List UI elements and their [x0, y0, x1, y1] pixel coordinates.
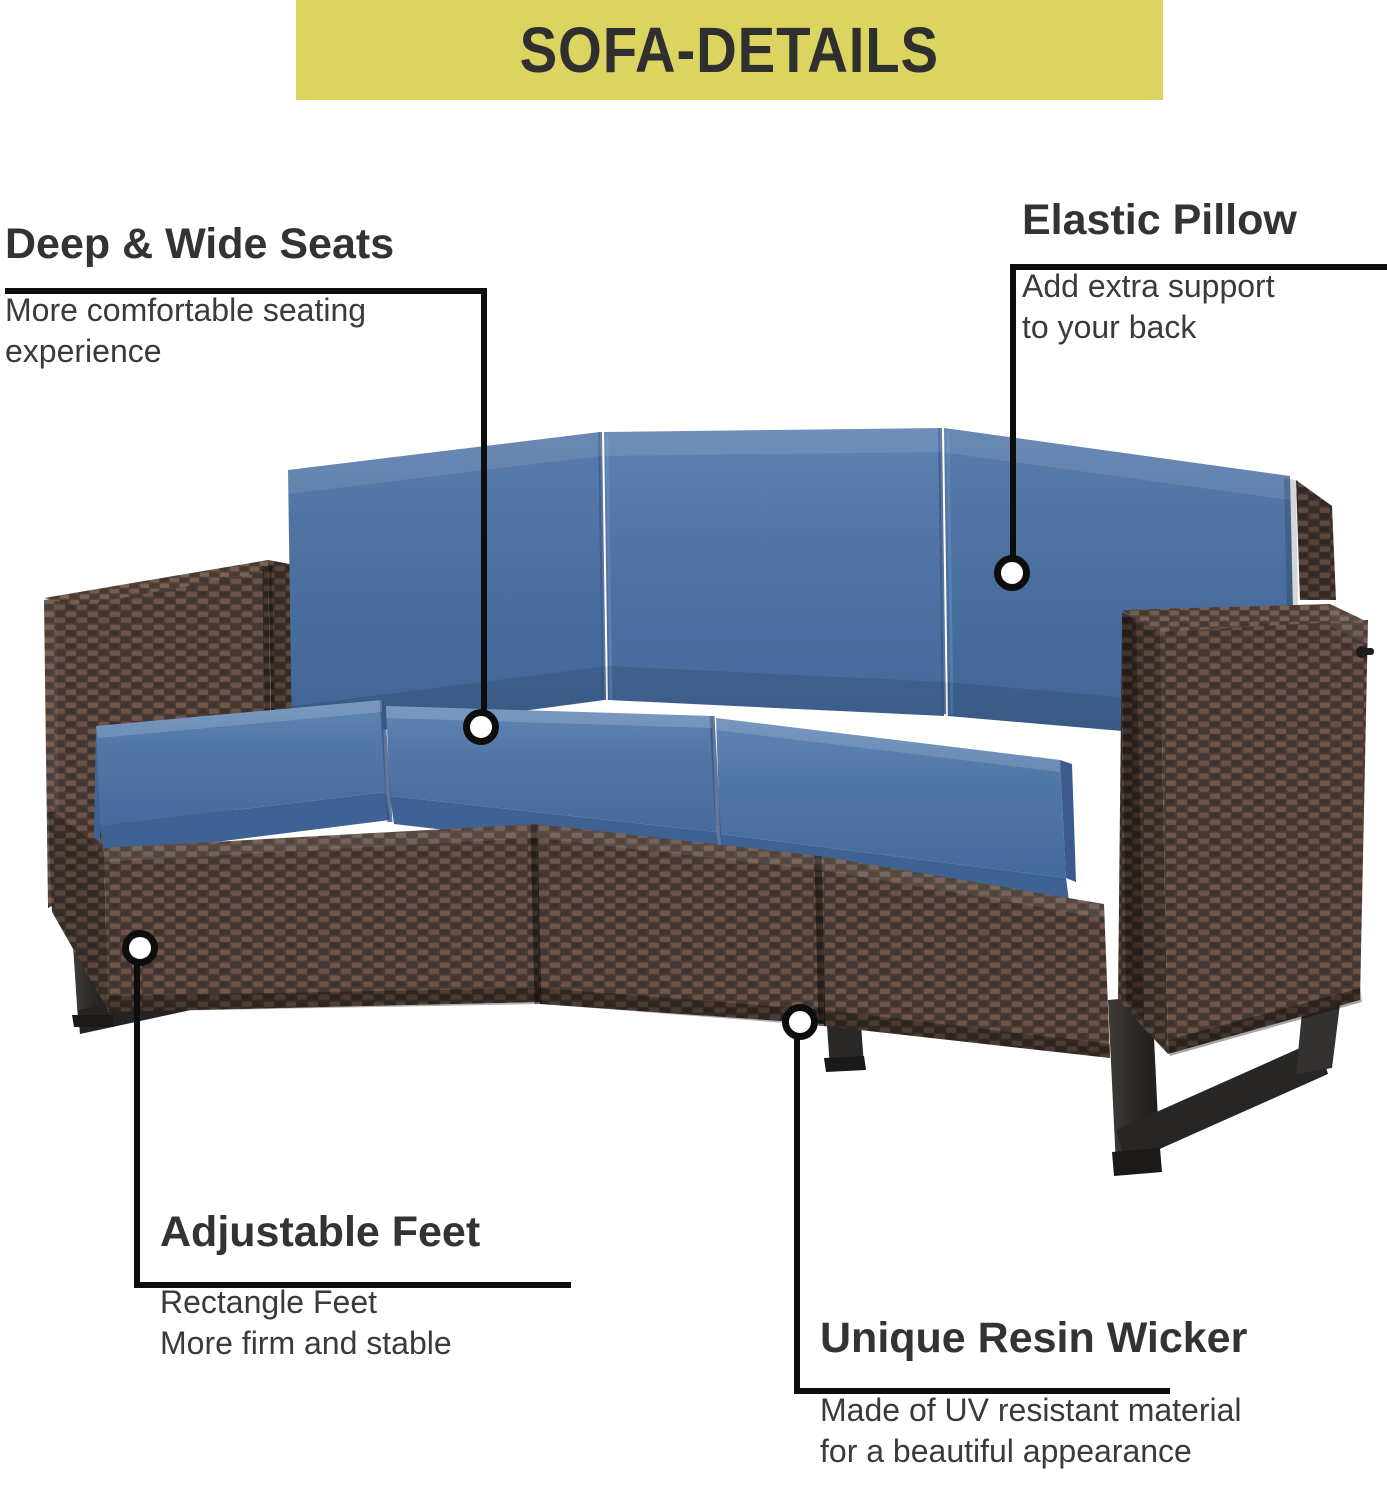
leader-line-elastic-pillow — [1010, 264, 1016, 584]
callout-body-line-2-elastic-pillow: to your back — [1022, 307, 1382, 348]
infographic-page: SOFA-DETAILS — [0, 0, 1387, 1488]
marker-dot-adjustable-feet — [122, 930, 158, 966]
callout-elastic-pillow: Elastic Pillow Add extra support to your… — [1022, 198, 1382, 347]
callout-body-line-2-adjustable-feet: More firm and stable — [160, 1323, 630, 1364]
leader-line-unique-resin-wicker — [794, 1022, 800, 1394]
sofa-right-arm — [1118, 604, 1374, 1056]
marker-dot-deep-wide-seats — [463, 709, 499, 745]
callout-deep-wide-seats: Deep & Wide Seats More comfortable seati… — [5, 222, 505, 371]
callout-body-line-1-deep-wide-seats: More comfortable seating — [5, 290, 505, 331]
sofa-back-rail — [1296, 480, 1336, 600]
marker-dot-unique-resin-wicker — [782, 1004, 818, 1040]
callout-body-line-1-elastic-pillow: Add extra support — [1022, 266, 1382, 307]
callout-heading-elastic-pillow: Elastic Pillow — [1022, 198, 1382, 244]
callout-body-line-2-deep-wide-seats: experience — [5, 331, 505, 372]
callout-adjustable-feet: Adjustable Feet Rectangle Feet More firm… — [160, 1210, 630, 1363]
callout-body-line-2-unique-resin-wicker: for a beautiful appearance — [820, 1431, 1380, 1472]
callout-body-line-1-adjustable-feet: Rectangle Feet — [160, 1282, 630, 1323]
callout-unique-resin-wicker: Unique Resin Wicker Made of UV resistant… — [820, 1316, 1380, 1471]
callout-body-line-1-unique-resin-wicker: Made of UV resistant material — [820, 1390, 1380, 1431]
leader-line-adjustable-feet — [134, 948, 140, 1288]
callout-heading-unique-resin-wicker: Unique Resin Wicker — [820, 1316, 1380, 1362]
callout-heading-adjustable-feet: Adjustable Feet — [160, 1210, 630, 1256]
marker-dot-elastic-pillow — [994, 555, 1030, 591]
callout-heading-deep-wide-seats: Deep & Wide Seats — [5, 222, 505, 268]
